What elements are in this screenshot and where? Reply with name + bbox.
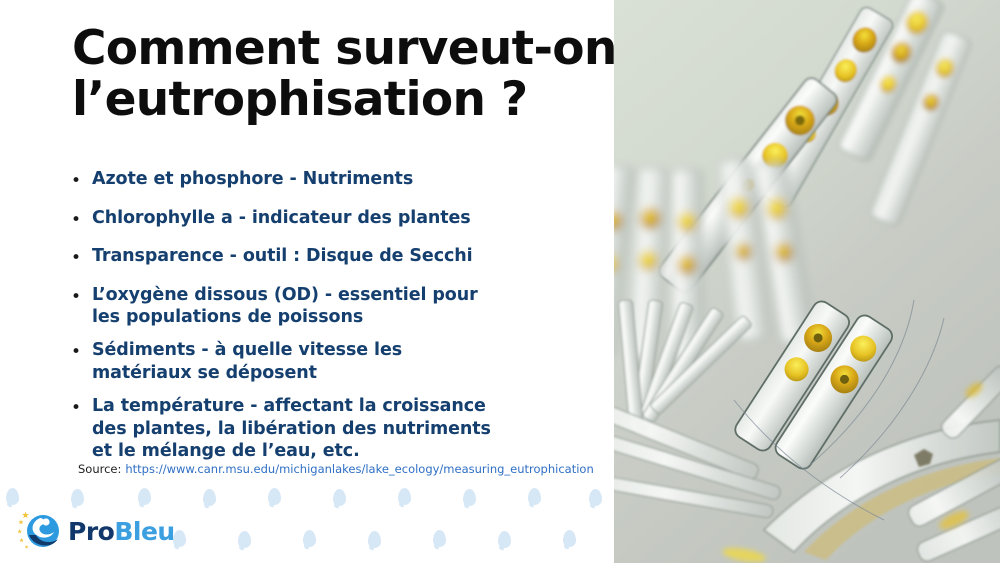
- slide-title: Comment surveut-on l’eutrophisation ?: [72, 24, 672, 126]
- source-label: Source:: [78, 462, 121, 476]
- slide-canvas: Comment surveut-on l’eutrophisation ? • …: [0, 0, 1000, 563]
- bullet-point-icon: •: [66, 207, 92, 235]
- bullet-list: • Azote et phosphore - Nutriments • Chlo…: [66, 168, 596, 473]
- list-item-label: Transparence - outil : Disque de Secchi: [92, 245, 596, 267]
- list-item-label: L’oxygène dissous (OD) - essentiel pour …: [92, 284, 596, 329]
- droplet-icon: [333, 489, 346, 506]
- droplet-icon: [238, 531, 251, 548]
- list-item-label: Sédiments - à quelle vitesse les matéria…: [92, 339, 596, 384]
- source-line: Source:https://www.canr.msu.edu/michigan…: [78, 462, 594, 476]
- logo-wordmark: ProBleu: [68, 519, 175, 544]
- bullet-point-icon: •: [66, 284, 92, 312]
- droplet-icon: [303, 530, 316, 547]
- list-item: • La température - affectant la croissan…: [66, 395, 596, 462]
- droplet-icon: [528, 488, 541, 505]
- droplet-icon: [138, 488, 151, 505]
- droplet-icon: [268, 488, 281, 505]
- list-item-label: Chlorophylle a - indicateur des plantes: [92, 207, 596, 229]
- probleu-logo-icon: [18, 508, 64, 554]
- droplet-icon: [433, 530, 446, 547]
- list-item: • Transparence - outil : Disque de Secch…: [66, 245, 596, 273]
- list-item: • Sédiments - à quelle vitesse les matér…: [66, 339, 596, 384]
- droplet-icon: [173, 530, 186, 547]
- droplet-icon: [463, 489, 476, 506]
- bullet-point-icon: •: [66, 245, 92, 273]
- droplet-icon: [368, 531, 381, 548]
- logo-text-pro: Pro: [68, 517, 114, 546]
- list-item: • Azote et phosphore - Nutriments: [66, 168, 596, 196]
- list-item: • Chlorophylle a - indicateur des plante…: [66, 207, 596, 235]
- droplet-icon: [203, 489, 216, 506]
- bullet-point-icon: •: [66, 395, 92, 423]
- droplet-icon: [563, 530, 576, 547]
- bullet-point-icon: •: [66, 339, 92, 367]
- droplet-icon: [498, 531, 511, 548]
- droplet-icon: [71, 489, 84, 506]
- list-item-label: La température - affectant la croissance…: [92, 395, 596, 462]
- droplet-icon: [589, 489, 602, 506]
- diatom-microscopy-photo: [614, 0, 1000, 563]
- logo-text-bleu: Bleu: [114, 517, 174, 546]
- droplet-icon: [398, 488, 411, 505]
- bullet-point-icon: •: [66, 168, 92, 196]
- list-item: • L’oxygène dissous (OD) - essentiel pou…: [66, 284, 596, 329]
- list-item-label: Azote et phosphore - Nutriments: [92, 168, 596, 190]
- logo[interactable]: ProBleu: [18, 508, 175, 554]
- source-link[interactable]: https://www.canr.msu.edu/michiganlakes/l…: [125, 462, 593, 476]
- droplet-icon: [6, 488, 19, 505]
